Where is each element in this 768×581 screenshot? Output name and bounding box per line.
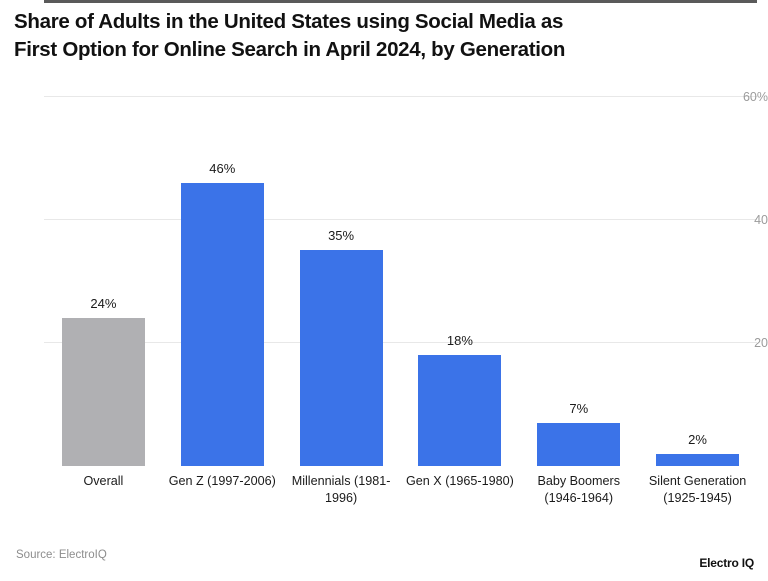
category-label-2: Millennials (1981-1996) xyxy=(284,473,399,506)
bar-value-label-5: 2% xyxy=(638,432,758,447)
bar-value-label-1: 46% xyxy=(162,161,282,176)
bar-value-label-2: 35% xyxy=(281,228,401,243)
category-label-5: Silent Generation (1925-1945) xyxy=(640,473,755,506)
category-label-4: Baby Boomers (1946-1964) xyxy=(521,473,636,506)
gridline-60 xyxy=(44,96,757,97)
bar-value-label-0: 24% xyxy=(43,296,163,311)
bar-value-label-4: 7% xyxy=(519,401,639,416)
bar-0[interactable] xyxy=(62,318,145,466)
source-note: Source: ElectroIQ xyxy=(16,549,107,561)
y-tick-label-20: 20 xyxy=(728,336,768,350)
category-label-3: Gen X (1965-1980) xyxy=(403,473,518,490)
y-tick-label-60: 60% xyxy=(728,90,768,104)
bar-1[interactable] xyxy=(181,183,264,466)
bar-5[interactable] xyxy=(656,454,739,466)
category-label-1: Gen Z (1997-2006) xyxy=(165,473,280,490)
bar-value-label-3: 18% xyxy=(400,333,520,348)
bar-4[interactable] xyxy=(537,423,620,466)
chart-plot-area: 204060% 24%46%35%18%7%2% OverallGen Z (1… xyxy=(0,0,768,581)
bar-3[interactable] xyxy=(418,355,501,466)
y-tick-label-40: 40 xyxy=(728,213,768,227)
x-axis-line xyxy=(44,0,757,3)
gridline-40 xyxy=(44,219,757,220)
brand-logo: Electro IQ xyxy=(699,556,754,570)
category-label-0: Overall xyxy=(46,473,161,490)
bar-2[interactable] xyxy=(300,250,383,466)
